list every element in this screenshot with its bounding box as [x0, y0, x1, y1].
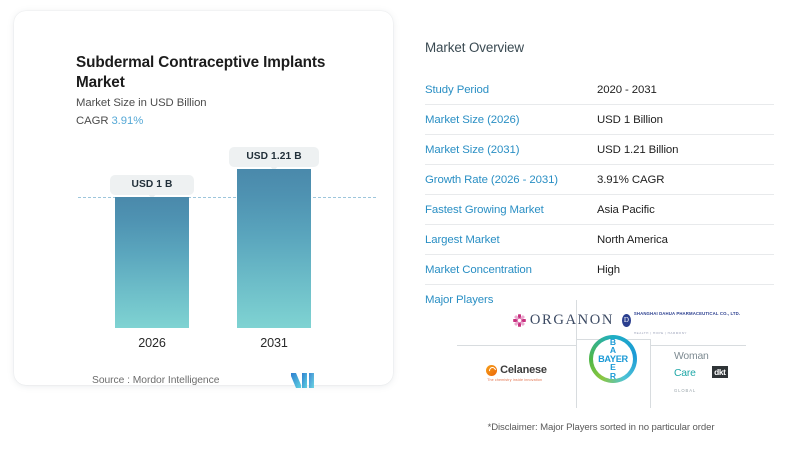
row-value: North America — [597, 225, 774, 255]
bayer-cross-icon: BAYER BAYER — [589, 335, 637, 383]
row-label: Market Concentration — [425, 255, 597, 285]
major-players-logo-grid: ORGANON D SHANGHAI DAHUA PHARMACEUTICAL … — [425, 300, 777, 408]
cagr-label: CAGR — [76, 115, 108, 127]
row-label: Growth Rate (2026 - 2031) — [425, 165, 597, 195]
cagr-value: 3.91% — [111, 115, 143, 127]
chart-subtitle: Market Size in USD Billion — [76, 97, 207, 109]
x-axis-label-2031: 2031 — [237, 336, 311, 350]
table-row: Growth Rate (2026 - 2031) 3.91% CAGR — [425, 165, 774, 195]
row-label: Largest Market — [425, 225, 597, 255]
table-row: Market Size (2026) USD 1 Billion — [425, 105, 774, 135]
organon-wordmark: ORGANON — [530, 312, 614, 329]
row-value: 2020 - 2031 — [597, 75, 774, 105]
logo-celanese: Celanese The chemistry inside innovation — [457, 356, 576, 390]
row-label: Market Size (2031) — [425, 135, 597, 165]
bar-2026 — [115, 197, 189, 328]
logo-womancare-global: Woman Care GLOBAL dkt — [656, 354, 746, 390]
disclaimer-text: *Disclaimer: Major Players sorted in no … — [425, 422, 777, 433]
womancare-word-global: GLOBAL — [674, 388, 696, 393]
row-label: Fastest Growing Market — [425, 195, 597, 225]
grid-divider-horizontal-left — [457, 345, 576, 346]
shanghai-dahua-tagline: HEALTH | HOPE | HARMONY — [634, 331, 687, 335]
shanghai-dahua-wordmark: SHANGHAI DAHUA PHARMACEUTICAL CO., LTD. — [634, 311, 740, 316]
report-snapshot-page: Subdermal Contraceptive Implants Market … — [0, 0, 800, 459]
shanghai-dahua-mark-icon: D — [622, 314, 631, 327]
bar-value-label-2026: USD 1 B — [110, 175, 194, 195]
row-label: Market Size (2026) — [425, 105, 597, 135]
table-row: Largest Market North America — [425, 225, 774, 255]
table-row: Fastest Growing Market Asia Pacific — [425, 195, 774, 225]
market-overview-table: Study Period 2020 - 2031 Market Size (20… — [425, 75, 774, 314]
bar-chart-plot: USD 1 B USD 1.21 B 2026 2031 — [76, 141, 376, 346]
row-value: USD 1 Billion — [597, 105, 774, 135]
logo-organon: ORGANON — [503, 308, 623, 332]
womancare-word-care: Care — [674, 368, 696, 379]
cagr-row: CAGR3.91% — [76, 115, 143, 127]
chart-title: Subdermal Contraceptive Implants Market — [76, 53, 376, 92]
celanese-mark-icon — [486, 365, 497, 376]
table-row: Market Concentration High — [425, 255, 774, 285]
grid-divider-vertical-right — [650, 339, 651, 408]
bar-2031 — [237, 169, 311, 328]
logo-shanghai-dahua: D SHANGHAI DAHUA PHARMACEUTICAL CO., LTD… — [622, 308, 746, 332]
source-text: Source : Mordor Intelligence — [92, 375, 219, 386]
x-axis-label-2026: 2026 — [115, 336, 189, 350]
market-overview-title: Market Overview — [425, 40, 777, 55]
bar-value-label-2031: USD 1.21 B — [229, 147, 319, 167]
table-row: Market Size (2031) USD 1.21 Billion — [425, 135, 774, 165]
table-row: Study Period 2020 - 2031 — [425, 75, 774, 105]
chart-card: Subdermal Contraceptive Implants Market … — [14, 11, 393, 385]
row-value: 3.91% CAGR — [597, 165, 774, 195]
mordor-intelligence-logo — [291, 373, 317, 388]
womancare-word-woman: Woman — [674, 351, 709, 362]
celanese-tagline: The chemistry inside innovation — [487, 378, 542, 382]
grid-divider-vertical-left — [576, 339, 577, 408]
market-overview-panel: Market Overview Study Period 2020 - 2031… — [425, 40, 777, 314]
logo-bayer: BAYER BAYER — [589, 330, 637, 388]
row-label: Study Period — [425, 75, 597, 105]
row-value: Asia Pacific — [597, 195, 774, 225]
dkt-badge: dkt — [712, 366, 728, 378]
celanese-wordmark: Celanese — [500, 364, 547, 376]
bayer-wordmark-horizontal: BAYER — [593, 354, 633, 364]
row-value: USD 1.21 Billion — [597, 135, 774, 165]
row-value: High — [597, 255, 774, 285]
organon-mark-icon — [512, 313, 527, 328]
